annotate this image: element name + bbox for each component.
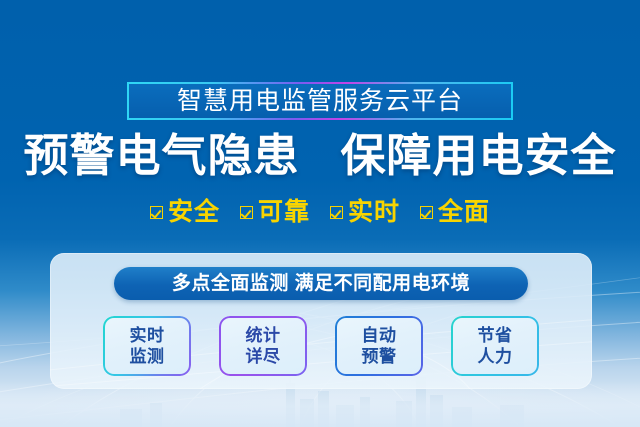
card-line-2: 预警	[362, 347, 397, 367]
card-line-2: 人力	[478, 347, 513, 367]
card-line-2: 监测	[130, 347, 165, 367]
keyword-list: 安全 可靠 实时 全面	[0, 200, 640, 225]
card-line-1: 自动	[362, 326, 397, 346]
headline-part-2: 保障用电安全	[341, 130, 617, 181]
feature-card-save-manpower[interactable]: 节省 人力	[451, 316, 539, 376]
page-headline: 预警电气隐患 保障用电安全	[0, 132, 640, 179]
feature-card-realtime-monitoring[interactable]: 实时 监测	[103, 316, 191, 376]
checkbox-checked-icon	[420, 206, 433, 219]
keyword-label: 全面	[438, 200, 490, 225]
keyword-item-3: 实时	[330, 200, 400, 225]
platform-title-text: 智慧用电监管服务云平台	[177, 89, 463, 114]
checkbox-checked-icon	[330, 206, 343, 219]
checkbox-checked-icon	[240, 206, 253, 219]
headline-part-1: 预警电气隐患	[23, 130, 299, 181]
keyword-item-1: 安全	[150, 200, 220, 225]
feature-pill-banner: 多点全面监测 满足不同配用电环境	[114, 267, 528, 300]
feature-card-detailed-statistics[interactable]: 统计 详尽	[219, 316, 307, 376]
platform-title-box: 智慧用电监管服务云平台	[127, 82, 513, 120]
keyword-item-4: 全面	[420, 200, 490, 225]
feature-card-automatic-alarm[interactable]: 自动 预警	[335, 316, 423, 376]
card-line-1: 统计	[246, 326, 281, 346]
keyword-label: 实时	[348, 200, 400, 225]
feature-pill-text: 多点全面监测 满足不同配用电环境	[172, 274, 470, 293]
keyword-label: 安全	[168, 200, 220, 225]
promo-poster: 智慧用电监管服务云平台 预警电气隐患 保障用电安全 安全 可靠 实时 全面	[0, 0, 640, 427]
keyword-item-2: 可靠	[240, 200, 310, 225]
checkbox-checked-icon	[150, 206, 163, 219]
card-line-2: 详尽	[246, 347, 281, 367]
feature-card-list: 实时 监测 统计 详尽 自动 预警 节省 人力	[50, 316, 592, 378]
card-line-1: 节省	[478, 326, 513, 346]
keyword-label: 可靠	[258, 200, 310, 225]
card-line-1: 实时	[130, 326, 165, 346]
